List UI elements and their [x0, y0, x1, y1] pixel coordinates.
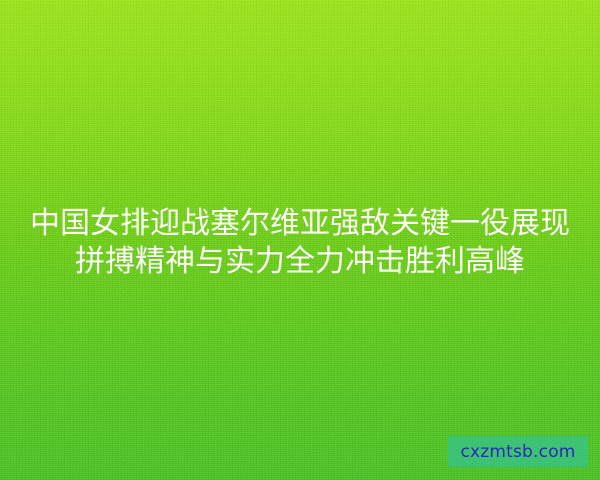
background-gradient: [0, 0, 600, 480]
site-watermark: cxzmtsb.com: [448, 436, 588, 467]
image-canvas: 中国女排迎战塞尔维亚强敌关键一役展现 拼搏精神与实力全力冲击胜利高峰 cxzmt…: [0, 0, 600, 480]
watermark-domain-text: cxzmtsb.com: [460, 442, 575, 462]
